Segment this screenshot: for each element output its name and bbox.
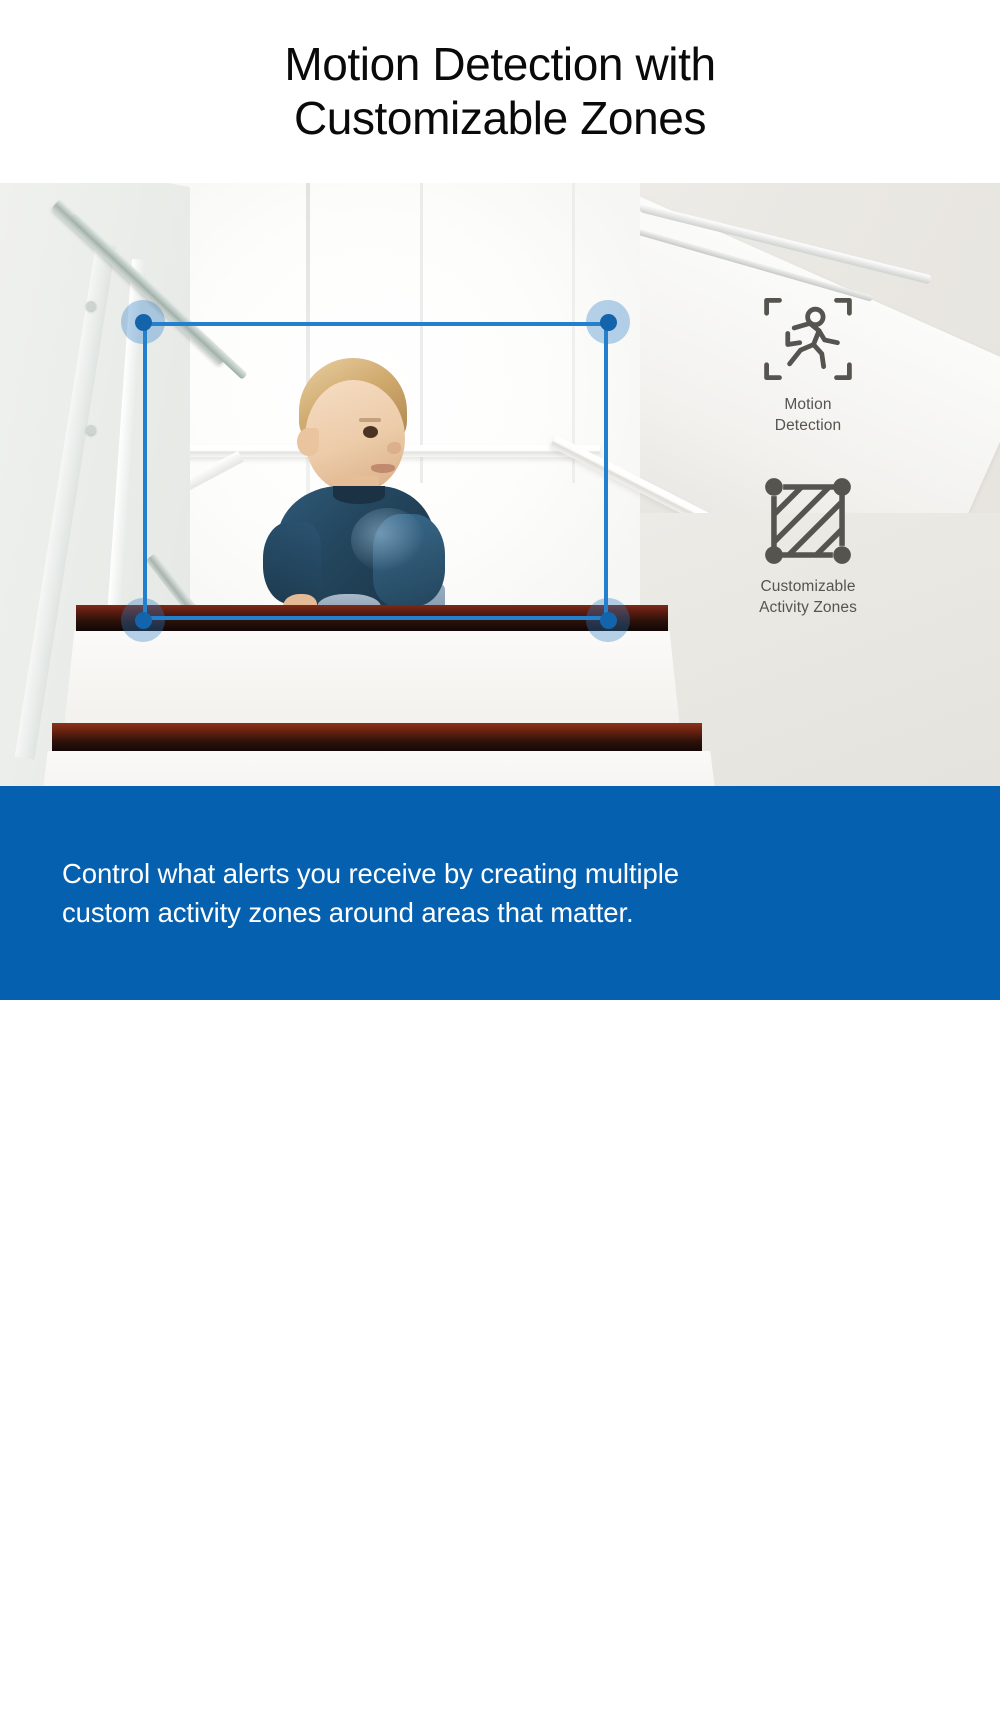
customizable-activity-zones-icon	[762, 475, 854, 567]
caption-line2: Detection	[775, 417, 841, 434]
scene-photo: Motion Detection	[0, 183, 1000, 786]
handrail-bracket-bottom	[86, 425, 96, 435]
feature-motion-detection: Motion Detection	[762, 293, 854, 437]
zone-handle-bottom-left[interactable]	[121, 598, 165, 642]
page-title-line1: Motion Detection with	[284, 38, 715, 90]
feature-activity-zones-caption: Customizable Activity Zones	[759, 577, 857, 619]
banner-description: Control what alerts you receive by creat…	[62, 854, 682, 932]
activity-zone-rectangle[interactable]	[143, 322, 608, 620]
zone-handle-top-right[interactable]	[586, 300, 630, 344]
bottom-banner: Control what alerts you receive by creat…	[0, 786, 1000, 1000]
caption-line2: Activity Zones	[759, 599, 857, 616]
page-title-line2: Customizable Zones	[284, 92, 715, 145]
page-title: Motion Detection with Customizable Zones	[284, 38, 715, 145]
zone-handle-bottom-right[interactable]	[586, 598, 630, 642]
stair-riser-lower	[34, 751, 724, 786]
feature-motion-detection-caption: Motion Detection	[775, 395, 841, 437]
motion-detection-icon	[762, 293, 854, 385]
caption-line1: Motion	[784, 396, 831, 413]
promo-page: Motion Detection with Customizable Zones	[0, 0, 1000, 1000]
handrail-bracket-top	[86, 301, 96, 311]
stair-tread-lower	[52, 723, 702, 751]
feature-list: Motion Detection	[718, 293, 898, 619]
feature-activity-zones: Customizable Activity Zones	[759, 475, 857, 619]
caption-line1: Customizable	[760, 578, 855, 595]
zone-handle-top-left[interactable]	[121, 300, 165, 344]
tapo-logo	[744, 1632, 944, 1718]
header: Motion Detection with Customizable Zones	[0, 0, 1000, 183]
